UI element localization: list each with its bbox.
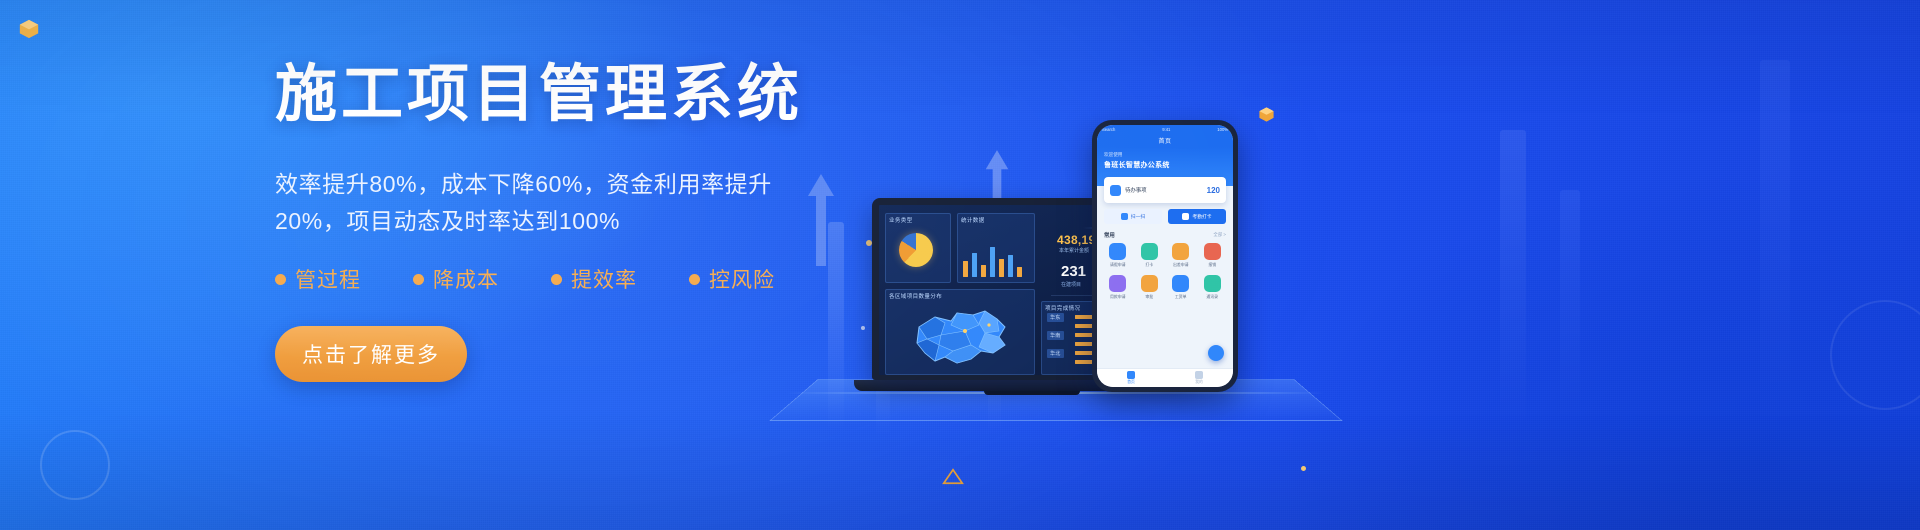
app-item[interactable]: 打卡 xyxy=(1134,243,1166,268)
bullet-dot-icon xyxy=(689,274,700,285)
scan-icon xyxy=(1121,213,1128,220)
panel-header: 业务类型 xyxy=(886,214,950,226)
cube-icon xyxy=(18,18,40,40)
home-icon xyxy=(1127,371,1135,379)
bullet-dot-icon xyxy=(551,274,562,285)
tab-label: 首页 xyxy=(1127,380,1135,385)
panel-statistics: 统计数据 xyxy=(957,213,1035,283)
payment-request-icon xyxy=(1109,275,1126,292)
chart-tick-label: 华北 xyxy=(1047,349,1064,358)
section-header: 常用 全部 > xyxy=(1104,231,1226,239)
feature-label: 提效率 xyxy=(571,264,637,294)
subtitle-line-2: 20%，项目动态及时率达到100% xyxy=(275,208,620,234)
chart-tick-label: 华南 xyxy=(1047,331,1064,340)
ring-decoration xyxy=(1830,300,1920,410)
todo-icon xyxy=(1110,185,1121,196)
bar-decoration xyxy=(1760,60,1790,440)
ring-decoration xyxy=(40,430,110,500)
mini-bar xyxy=(963,261,968,277)
contacts-icon xyxy=(1204,275,1221,292)
floating-action-button[interactable] xyxy=(1208,345,1224,361)
subtitle-line-1: 效率提升80%，成本下降60%，资金利用率提升 xyxy=(275,171,772,197)
feature-label: 降成本 xyxy=(433,264,499,294)
scan-label: 扫一扫 xyxy=(1131,213,1145,220)
stat-label: 在建项目 xyxy=(1061,281,1081,288)
greeting-text: 欢迎使用 xyxy=(1104,152,1226,158)
app-label: 请假申请 xyxy=(1110,262,1126,268)
app-label: 打卡 xyxy=(1145,262,1153,268)
laptop-foot xyxy=(984,391,1080,395)
stat-value: 231 xyxy=(1061,263,1086,280)
reimbursement-icon xyxy=(1204,243,1221,260)
device-mockup-stage: 市场管理报表 业务类型 统计数据 xyxy=(790,96,1350,426)
leave-request-icon xyxy=(1109,243,1126,260)
phone-screen: Search 9:41 100% 首页 欢迎使用 鲁班长智慧办公系统 待办事项 xyxy=(1097,125,1233,387)
phone-tab-bar: 首页 我的 xyxy=(1097,368,1233,387)
feature-label: 管过程 xyxy=(295,264,361,294)
todo-count: 120 xyxy=(1207,186,1220,195)
hero-banner: 施工项目管理系统 效率提升80%，成本下降60%，资金利用率提升 20%，项目动… xyxy=(0,0,1920,530)
tab-profile[interactable]: 我的 xyxy=(1165,369,1233,387)
scan-button[interactable]: 扫一扫 xyxy=(1104,209,1162,224)
nav-title: 首页 xyxy=(1158,136,1171,145)
chart-tick-label: 华东 xyxy=(1047,313,1064,322)
quick-action-row: 扫一扫 考勤打卡 xyxy=(1104,209,1226,224)
feature-item: 降成本 xyxy=(413,264,551,294)
feature-item: 管过程 xyxy=(275,264,413,294)
section-more-link[interactable]: 全部 > xyxy=(1213,232,1226,238)
tab-home[interactable]: 首页 xyxy=(1097,369,1165,387)
todo-label: 待办事项 xyxy=(1125,186,1147,194)
phone-nav-bar: 首页 xyxy=(1097,134,1233,147)
dot-decoration xyxy=(1301,466,1306,471)
bullet-dot-icon xyxy=(413,274,424,285)
panel-header: 统计数据 xyxy=(958,214,1034,226)
business-trip-icon xyxy=(1172,243,1189,260)
app-grid: 请假申请 打卡 出差申请 报销 xyxy=(1102,243,1228,300)
bar-decoration xyxy=(1560,190,1580,430)
mini-bar xyxy=(972,253,977,277)
app-label: 通讯录 xyxy=(1206,294,1218,300)
attendance-button[interactable]: 考勤打卡 xyxy=(1168,209,1226,224)
pie-chart xyxy=(899,233,933,267)
learn-more-button[interactable]: 点击了解更多 xyxy=(275,326,467,382)
mini-bar xyxy=(981,265,986,277)
mini-bar xyxy=(1008,255,1013,277)
status-battery: 100% xyxy=(1217,127,1228,132)
app-item[interactable]: 报销 xyxy=(1197,243,1229,268)
app-item[interactable]: 请假申请 xyxy=(1102,243,1134,268)
app-item[interactable]: 用款申请 xyxy=(1102,275,1134,300)
app-label: 工资单 xyxy=(1175,294,1187,300)
status-time: 9:41 xyxy=(1162,127,1170,132)
feature-label: 控风险 xyxy=(709,264,775,294)
bullet-dot-icon xyxy=(275,274,286,285)
app-item[interactable]: 工资单 xyxy=(1165,275,1197,300)
kpi-amount-label: 本年累计金额 xyxy=(1059,247,1089,254)
todo-card[interactable]: 待办事项 120 xyxy=(1104,177,1226,203)
section-title: 常用 xyxy=(1104,231,1115,239)
clock-icon xyxy=(1182,213,1189,220)
tab-label: 我的 xyxy=(1195,380,1203,385)
app-item[interactable]: 出差申请 xyxy=(1165,243,1197,268)
bar-decoration xyxy=(1500,130,1526,430)
phone-status-bar: Search 9:41 100% xyxy=(1097,125,1233,134)
mini-bar xyxy=(999,259,1004,277)
app-label: 报销 xyxy=(1208,262,1216,268)
app-label: 审批 xyxy=(1145,294,1153,300)
feature-item: 提效率 xyxy=(551,264,689,294)
system-name: 鲁班长智慧办公系统 xyxy=(1104,160,1226,170)
clock-in-icon xyxy=(1141,243,1158,260)
hero-subtitle: 效率提升80%，成本下降60%，资金利用率提升 20%，项目动态及时率达到100… xyxy=(275,166,795,241)
china-map-chart xyxy=(901,301,1021,376)
app-label: 出差申请 xyxy=(1173,262,1189,268)
payslip-icon xyxy=(1172,275,1189,292)
app-item[interactable]: 通讯录 xyxy=(1197,275,1229,300)
app-item[interactable]: 审批 xyxy=(1134,275,1166,300)
user-icon xyxy=(1195,371,1203,379)
mini-bar xyxy=(990,247,995,277)
status-left-text: Search xyxy=(1102,127,1115,132)
attendance-label: 考勤打卡 xyxy=(1192,213,1211,220)
phone-mockup: Search 9:41 100% 首页 欢迎使用 鲁班长智慧办公系统 待办事项 xyxy=(1092,120,1238,392)
triangle-outline-icon xyxy=(942,468,964,490)
mini-bar xyxy=(1017,267,1022,277)
approval-icon xyxy=(1141,275,1158,292)
app-label: 用款申请 xyxy=(1110,294,1126,300)
